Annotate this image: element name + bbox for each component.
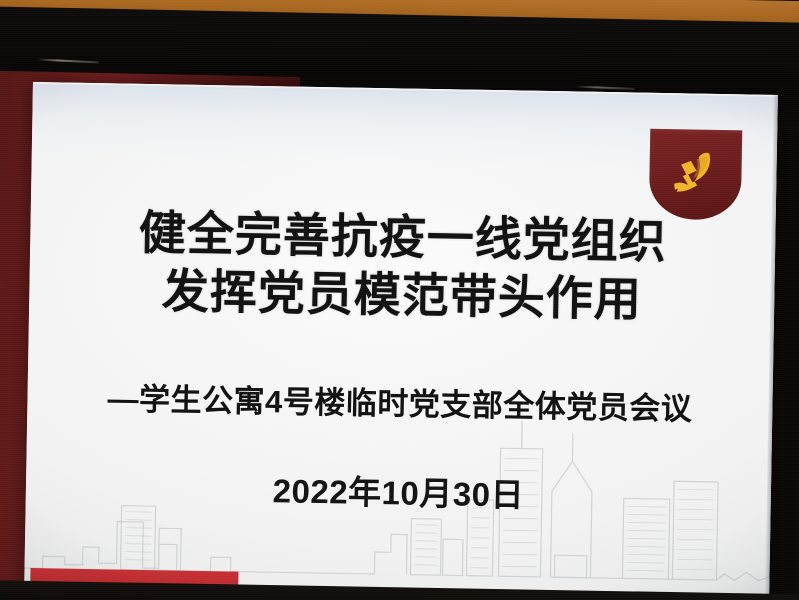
slide-photograph: 健全完善抗疫一线党组织 发挥党员模范带头作用 —学生公寓4号楼临时党支部全体党员… — [0, 0, 799, 600]
projection-slide: 健全完善抗疫一线党组织 发挥党员模范带头作用 —学生公寓4号楼临时党支部全体党员… — [24, 82, 778, 600]
bezel-light-reflection-right — [576, 86, 634, 90]
slide-subtitle: —学生公寓4号楼临时党支部全体党员会议 — [27, 372, 773, 430]
bezel-light-reflection-left — [37, 58, 99, 63]
slide-text-block: 健全完善抗疫一线党组织 发挥党员模范带头作用 —学生公寓4号楼临时党支部全体党员… — [24, 82, 778, 600]
slide-date: 2022年10月30日 — [26, 460, 772, 521]
slide-title: 健全完善抗疫一线党组织 发挥党员模范带头作用 — [29, 202, 776, 331]
